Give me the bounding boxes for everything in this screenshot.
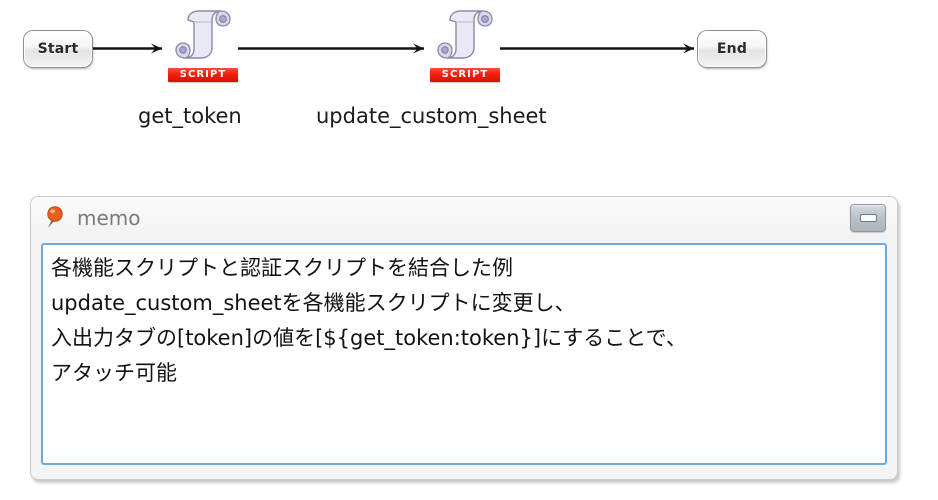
memo-panel: memo 各機能スクリプトと認証スクリプトを結合した例 update_custo… xyxy=(30,196,898,480)
script-scroll-icon xyxy=(433,8,495,66)
memo-title: memo xyxy=(77,206,141,230)
script-scroll-icon xyxy=(171,8,233,66)
node-end[interactable]: End xyxy=(698,31,766,67)
script-badge-label: SCRIPT xyxy=(442,70,489,80)
node-start[interactable]: Start xyxy=(24,31,92,67)
pushpin-icon xyxy=(43,205,67,231)
node-get-token[interactable]: SCRIPT xyxy=(166,8,240,92)
memo-line: update_custom_sheetを各機能スクリプトに変更し、 xyxy=(51,286,877,321)
node-end-label: End xyxy=(717,41,747,57)
memo-line: 入出力タブの[token]の値を[${get_token:token}]にするこ… xyxy=(51,321,877,356)
memo-textarea[interactable]: 各機能スクリプトと認証スクリプトを結合した例 update_custom_she… xyxy=(41,243,887,465)
flow-diagram: Start SCRIPT SCRIPT End get_token xyxy=(0,0,938,150)
script-badge-label: SCRIPT xyxy=(180,70,227,80)
node-update-custom-sheet[interactable]: SCRIPT xyxy=(428,8,502,92)
memo-line: アタッチ可能 xyxy=(51,356,877,391)
script-badge: SCRIPT xyxy=(168,68,238,82)
script-badge: SCRIPT xyxy=(430,68,500,82)
memo-line: 各機能スクリプトと認証スクリプトを結合した例 xyxy=(51,251,877,286)
minimize-icon xyxy=(860,214,877,222)
node-label-get-token: get_token xyxy=(138,104,242,128)
minimize-button[interactable] xyxy=(850,204,886,232)
node-start-label: Start xyxy=(38,41,79,57)
node-label-update-custom-sheet: update_custom_sheet xyxy=(316,104,547,128)
memo-titlebar: memo xyxy=(31,197,897,239)
